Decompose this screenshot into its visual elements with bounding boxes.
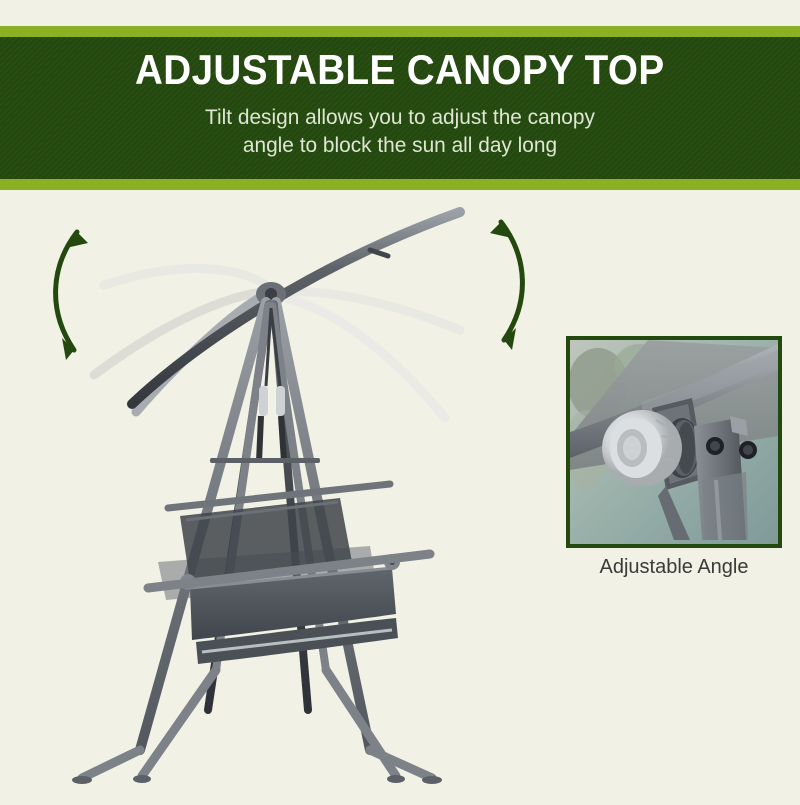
banner-bottom-stripe bbox=[0, 179, 800, 190]
detail-photo-caption: Adjustable Angle bbox=[566, 556, 782, 579]
banner-body: ADJUSTABLE CANOPY TOP Tilt design allows… bbox=[0, 37, 800, 179]
page-subtitle: Tilt design allows you to adjust the can… bbox=[205, 104, 595, 159]
page-title: ADJUSTABLE CANOPY TOP bbox=[135, 49, 664, 91]
adjustment-knob bbox=[602, 410, 682, 486]
swing-frame-feet bbox=[72, 775, 442, 784]
detail-photo-adjustable-angle bbox=[566, 336, 782, 548]
canopy-porch-swing-illustration bbox=[40, 190, 540, 800]
page-subtitle-line-2: angle to block the sun all day long bbox=[205, 132, 595, 160]
infographic-canvas: ADJUSTABLE CANOPY TOP Tilt design allows… bbox=[0, 0, 800, 800]
header-banner: ADJUSTABLE CANOPY TOP Tilt design allows… bbox=[0, 26, 800, 190]
banner-top-stripe bbox=[0, 26, 800, 37]
page-subtitle-line-1: Tilt design allows you to adjust the can… bbox=[205, 104, 595, 132]
swing-frame-ground-legs bbox=[82, 670, 432, 778]
